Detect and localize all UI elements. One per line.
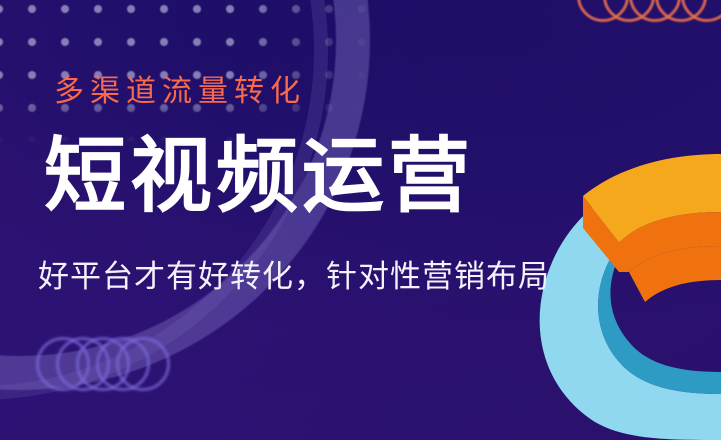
eyebrow-text: 多渠道流量转化 — [54, 66, 306, 110]
promo-banner: 多渠道流量转化 短视频运营 好平台才有好转化，针对性营销布局 — [0, 0, 721, 440]
orange-arcs-decoration — [577, 0, 721, 32]
overlapping-rings-decoration — [36, 334, 206, 396]
subtitle-text: 好平台才有好转化，针对性营销布局 — [38, 258, 550, 295]
ring-circle-icon — [116, 337, 170, 391]
page-title: 短视频运营 — [44, 136, 474, 218]
